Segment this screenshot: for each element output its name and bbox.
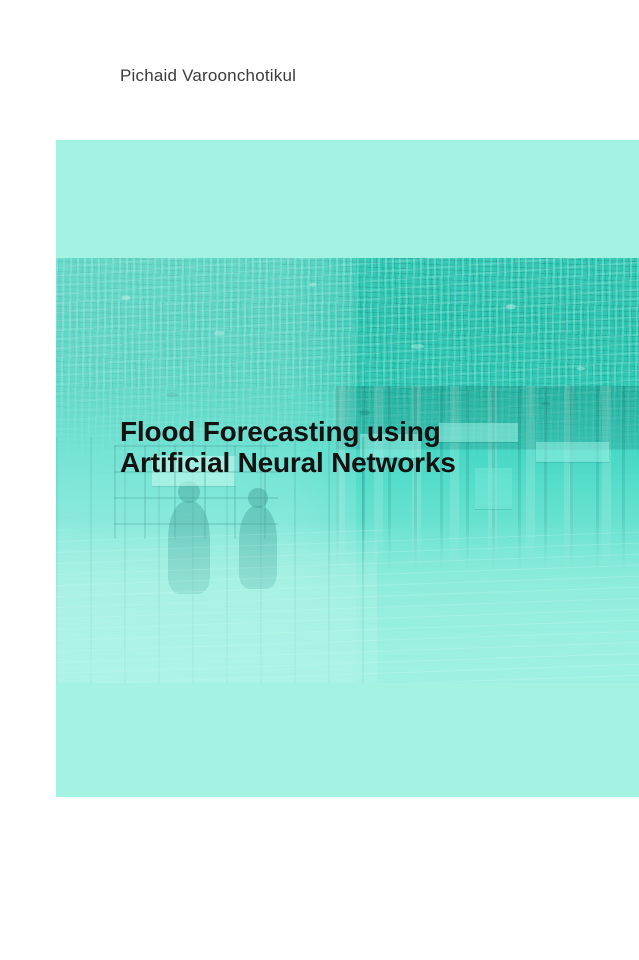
book-title: Flood Forecasting using Artificial Neura…	[120, 416, 560, 478]
author-name: Pichaid Varoonchotikul	[120, 66, 296, 86]
book-cover: Pichaid Varoonchotikul	[0, 0, 639, 960]
cover-art-panel: Flood Forecasting using Artificial Neura…	[56, 140, 639, 797]
